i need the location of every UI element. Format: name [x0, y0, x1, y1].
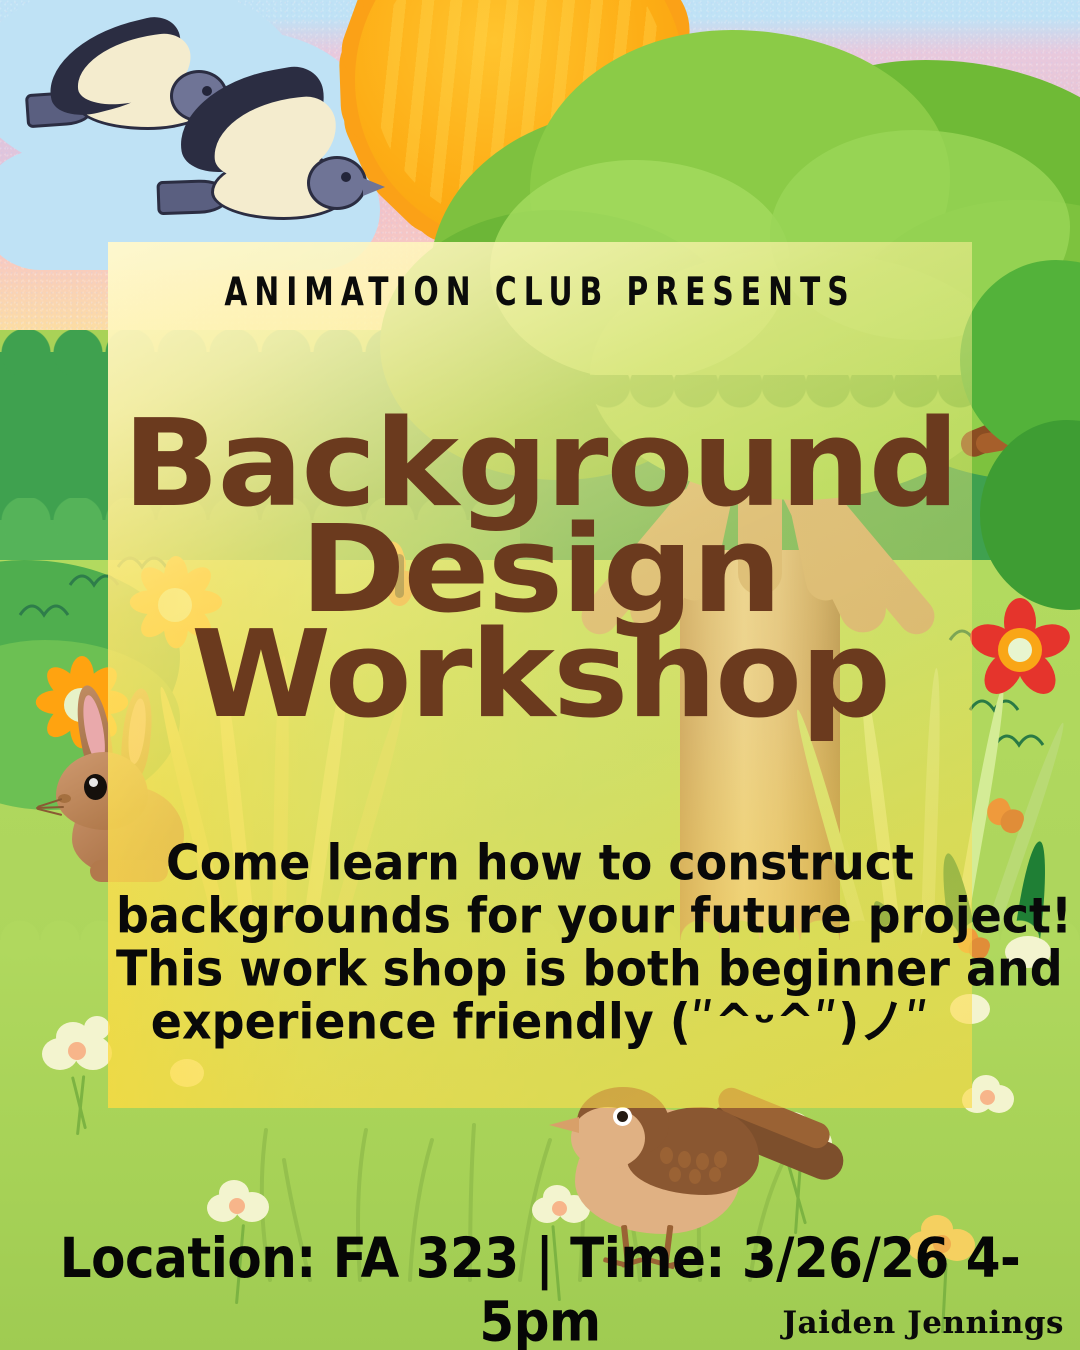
- flying-bird-icon: [165, 60, 395, 240]
- poster-canvas: ANIMATION CLUB PRESENTS Background Desig…: [0, 0, 1080, 1350]
- content-block: ANIMATION CLUB PRESENTS Background Desig…: [108, 242, 972, 1108]
- description-line-3: This work shop is both beginner and: [116, 942, 964, 995]
- description-text: Come learn how to construct backgrounds …: [116, 836, 964, 1049]
- description-line-4: experience friendly (ʺ^ᵕ^ʺ)ノʺ: [116, 995, 964, 1048]
- description-line-1: Come learn how to construct: [116, 836, 964, 889]
- description-line-2: backgrounds for your future project!: [116, 889, 964, 942]
- page-title: Background Design Workshop: [108, 412, 972, 729]
- butterfly-icon: [985, 795, 1029, 841]
- title-line-3: Workshop: [82, 623, 998, 729]
- author-signature: Jaiden Jennings: [782, 1305, 1064, 1341]
- kicker-text: ANIMATION CLUB PRESENTS: [108, 268, 972, 314]
